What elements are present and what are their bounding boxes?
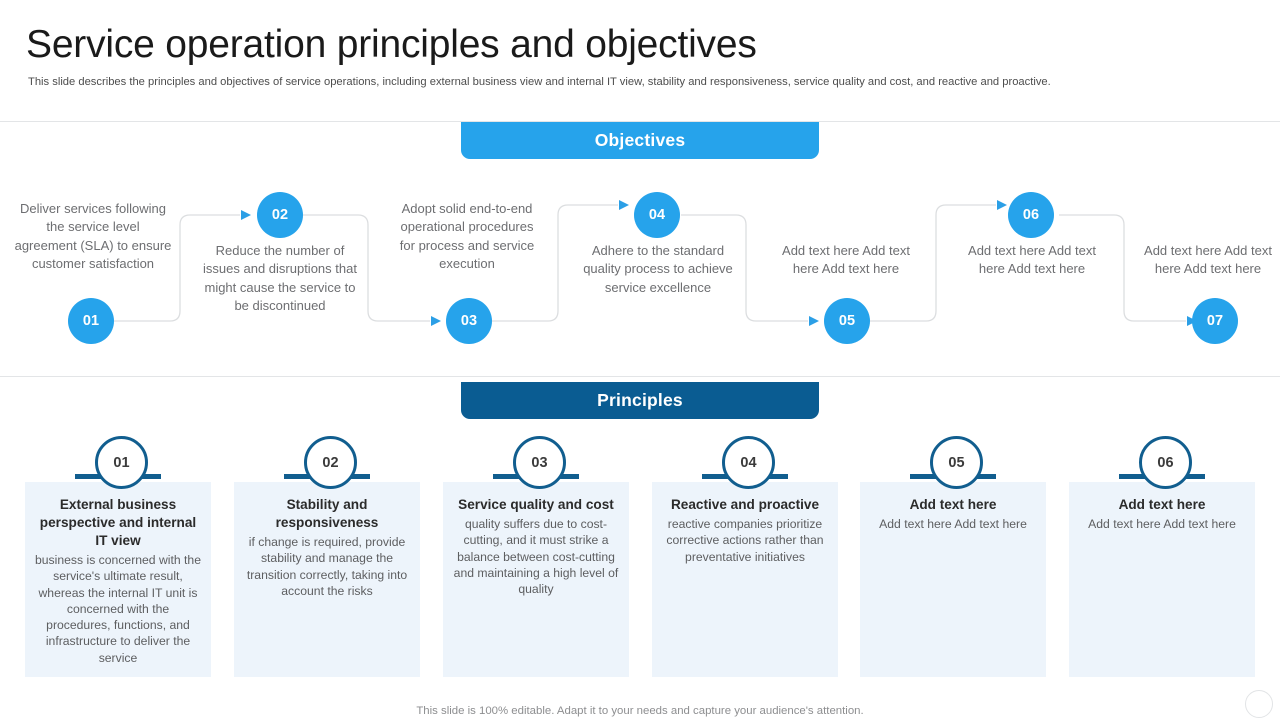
principle-number-ring-04: 04 (722, 436, 775, 489)
principle-body-05: Add text here Add text here (868, 516, 1038, 532)
page-subtitle: This slide describes the principles and … (28, 75, 1238, 89)
principle-body-06: Add text here Add text here (1077, 516, 1247, 532)
objective-number-03: 03 (446, 298, 492, 344)
objective-text-05: Add text here Add text here Add text her… (770, 242, 922, 279)
principle-body-02: if change is required, provide stability… (242, 534, 412, 599)
principles-banner: Principles (461, 382, 819, 419)
objective-text-03: Adopt solid end-to-end operational proce… (392, 200, 542, 274)
principle-panel-01: External business perspective and intern… (25, 482, 211, 677)
principle-panel-04: Reactive and proactive reactive companie… (652, 482, 838, 677)
principle-number-03: 03 (531, 455, 547, 471)
principle-number-ring-02: 02 (304, 436, 357, 489)
principle-number-ring-01: 01 (95, 436, 148, 489)
principle-number-06: 06 (1157, 455, 1173, 471)
principle-panel-03: Service quality and cost quality suffers… (443, 482, 629, 677)
objective-text-06: Add text here Add text here Add text her… (956, 242, 1108, 279)
page-title: Service operation principles and objecti… (26, 22, 757, 68)
divider-middle (0, 376, 1280, 377)
principle-heading-06: Add text here (1077, 496, 1247, 514)
principle-heading-04: Reactive and proactive (660, 496, 830, 514)
objective-number-06: 06 (1008, 192, 1054, 238)
watermark-circle-icon (1245, 690, 1273, 718)
objective-number-05: 05 (824, 298, 870, 344)
objective-text-01: Deliver services following the service l… (14, 200, 172, 274)
principle-number-05: 05 (948, 455, 964, 471)
footer-note: This slide is 100% editable. Adapt it to… (0, 705, 1280, 717)
objectives-row: Deliver services following the service l… (0, 150, 1280, 376)
objective-text-07: Add text here Add text here Add text her… (1132, 242, 1280, 279)
principle-number-ring-03: 03 (513, 436, 566, 489)
principle-heading-05: Add text here (868, 496, 1038, 514)
principle-panel-05: Add text here Add text here Add text her… (860, 482, 1046, 677)
slide-root: Service operation principles and objecti… (0, 0, 1280, 720)
principle-heading-02: Stability and responsiveness (242, 496, 412, 532)
principle-number-04: 04 (740, 455, 756, 471)
principle-number-02: 02 (322, 455, 338, 471)
objective-text-04: Adhere to the standard quality process t… (582, 242, 734, 297)
principle-heading-03: Service quality and cost (451, 496, 621, 514)
principle-heading-01: External business perspective and intern… (33, 496, 203, 550)
objective-number-01: 01 (68, 298, 114, 344)
principle-number-ring-05: 05 (930, 436, 983, 489)
principle-panel-06: Add text here Add text here Add text her… (1069, 482, 1255, 677)
principle-body-03: quality suffers due to cost-cutting, and… (451, 516, 621, 597)
principle-body-04: reactive companies prioritize corrective… (660, 516, 830, 565)
objective-number-07: 07 (1192, 298, 1238, 344)
objective-number-02: 02 (257, 192, 303, 238)
objective-number-04: 04 (634, 192, 680, 238)
principle-panel-02: Stability and responsiveness if change i… (234, 482, 420, 677)
principle-body-01: business is concerned with the service's… (33, 552, 203, 666)
principle-number-01: 01 (113, 455, 129, 471)
objectives-banner-label: Objectives (595, 130, 686, 151)
principle-number-ring-06: 06 (1139, 436, 1192, 489)
objective-text-02: Reduce the number of issues and disrupti… (203, 242, 357, 316)
principles-banner-label: Principles (597, 390, 683, 411)
